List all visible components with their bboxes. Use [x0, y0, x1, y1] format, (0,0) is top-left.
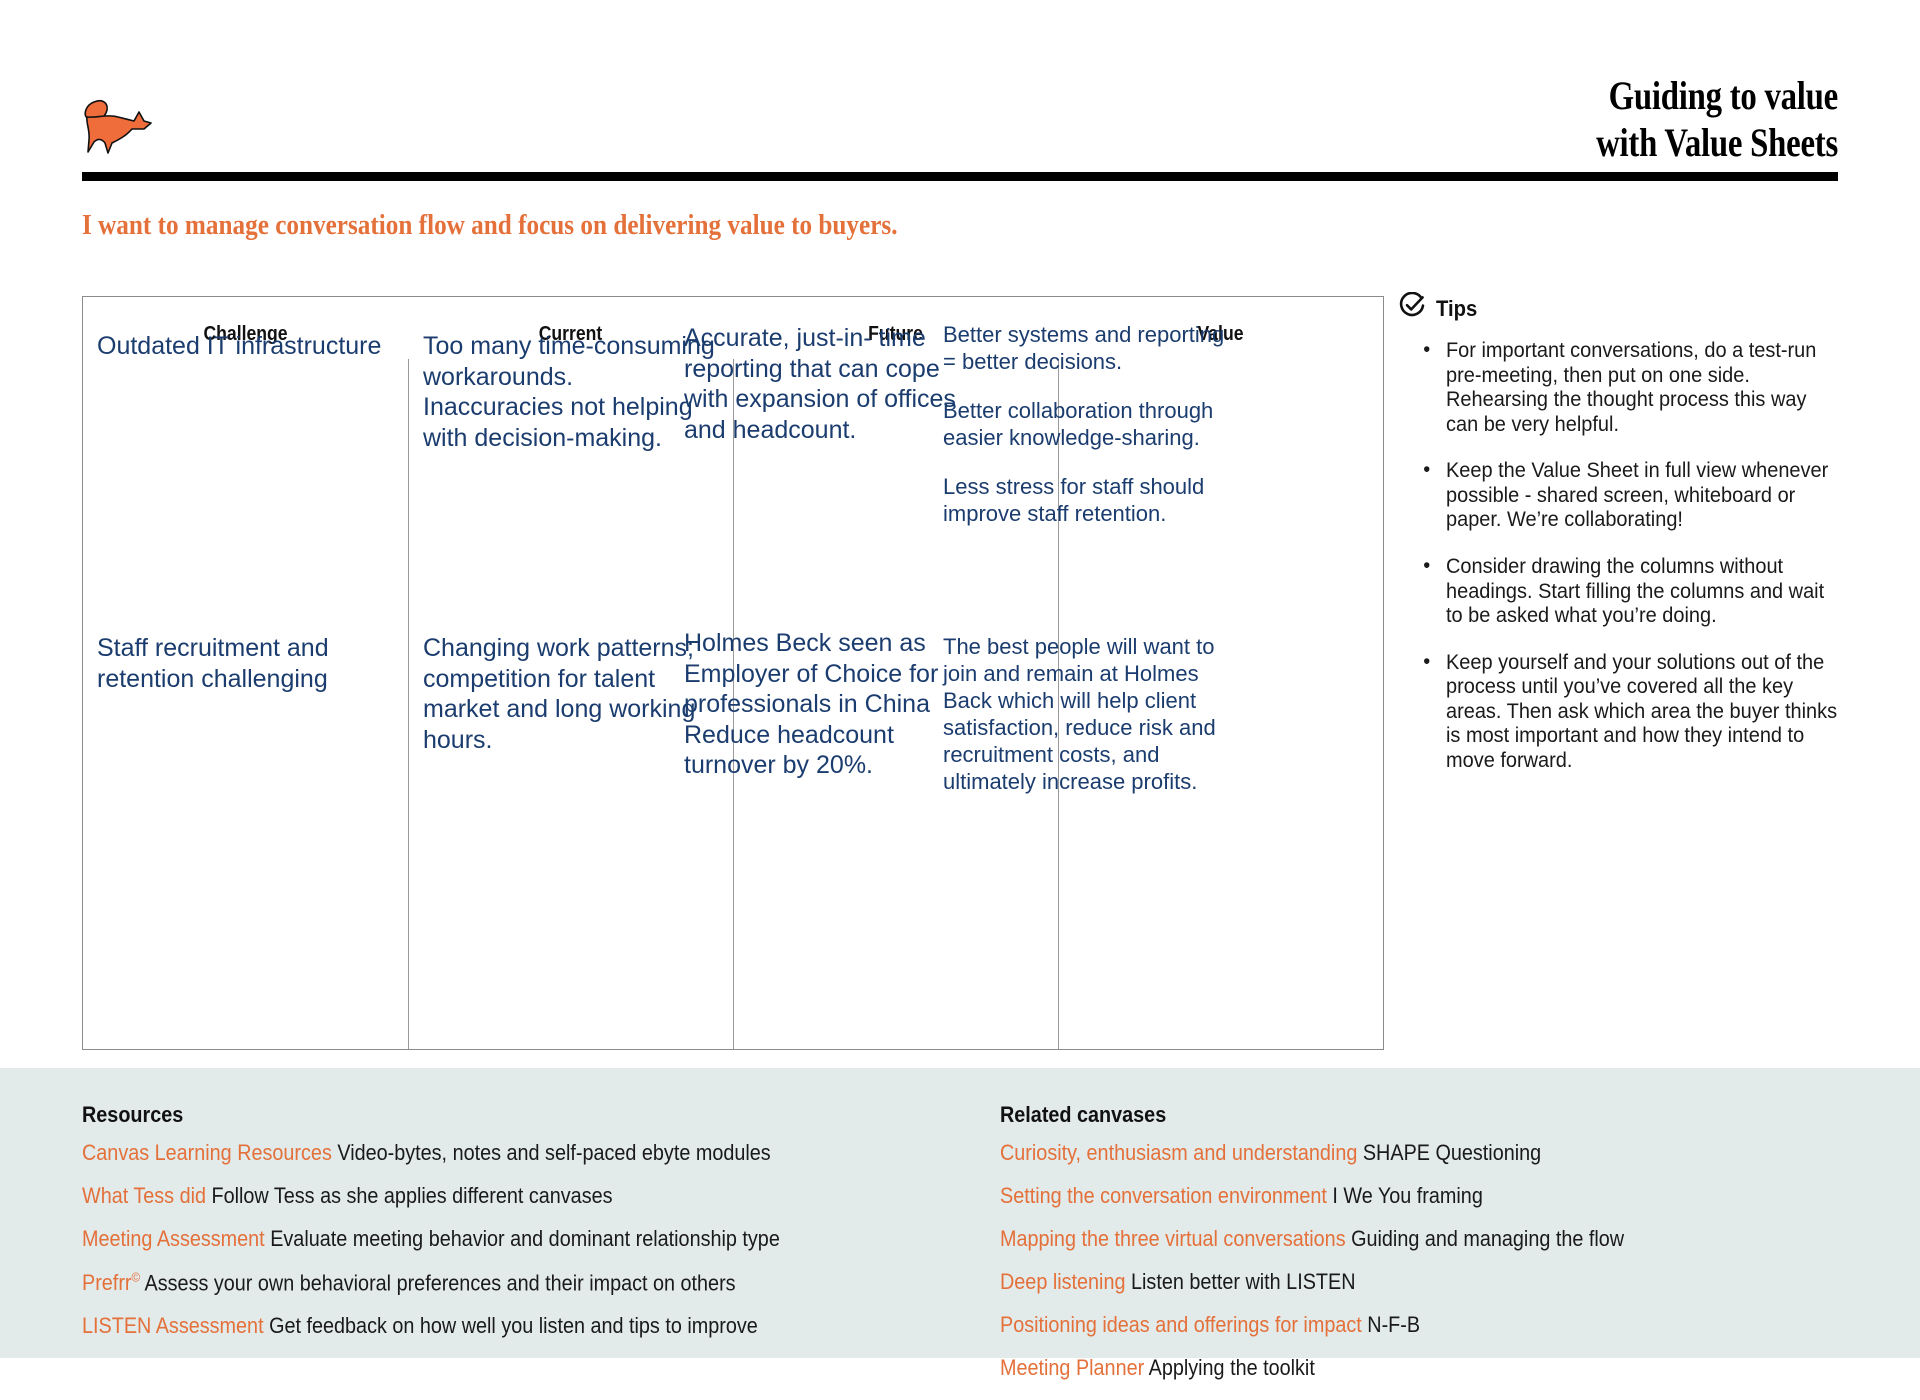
tips-list: For important conversations, do a test-r… — [1398, 339, 1858, 773]
cell-row1-value-p2: Better collaboration through easier know… — [943, 397, 1233, 451]
related-canvas-desc: Guiding and managing the flow — [1351, 1226, 1624, 1251]
related-canvas-link[interactable]: Setting the conversation environment — [1000, 1183, 1327, 1208]
resource-item[interactable]: What Tess did Follow Tess as she applies… — [82, 1185, 874, 1207]
resource-desc: Get feedback on how well you listen and … — [269, 1313, 758, 1338]
subtitle: I want to manage conversation flow and f… — [82, 210, 898, 242]
page-title-line1: Guiding to value — [1596, 72, 1838, 119]
related-canvas-desc: SHAPE Questioning — [1363, 1140, 1541, 1165]
cell-row1-current[interactable]: Too many time-consuming workarounds. Ina… — [423, 331, 715, 453]
tips-header: Tips — [1398, 292, 1858, 325]
cell-row1-future[interactable]: Accurate, just-in- time reporting that c… — [684, 323, 984, 445]
related-canvas-item[interactable]: Setting the conversation environment I W… — [1000, 1185, 1774, 1207]
related-canvas-desc: Applying the toolkit — [1149, 1355, 1315, 1380]
tip-item: Keep the Value Sheet in full view whenev… — [1446, 459, 1837, 533]
cell-row2-challenge[interactable]: Staff recruitment and retention challeng… — [97, 633, 402, 694]
resource-link[interactable]: Prefrr© — [82, 1270, 140, 1295]
resource-item[interactable]: Canvas Learning Resources Video-bytes, n… — [82, 1142, 874, 1164]
page-title-line2: with Value Sheets — [1596, 119, 1838, 166]
check-circle-icon — [1398, 292, 1426, 325]
cell-row2-current[interactable]: Changing work patterns; competition for … — [423, 633, 723, 755]
page-title: Guiding to value with Value Sheets — [1596, 72, 1838, 166]
cell-row1-challenge[interactable]: Outdated IT infrastructure — [97, 331, 397, 362]
cell-row2-future[interactable]: Holmes Beck seen as Employer of Choice f… — [684, 628, 974, 781]
resource-item[interactable]: Prefrr© Assess your own behavioral prefe… — [82, 1271, 874, 1294]
tip-item: For important conversations, do a test-r… — [1446, 339, 1837, 437]
copyright-mark: © — [132, 1270, 141, 1285]
resource-link[interactable]: Meeting Assessment — [82, 1226, 265, 1251]
resource-link[interactable]: LISTEN Assessment — [82, 1313, 264, 1338]
tip-item: Consider drawing the columns without hea… — [1446, 555, 1837, 629]
cell-row1-value-p3: Less stress for staff should improve sta… — [943, 473, 1233, 527]
resource-item[interactable]: LISTEN Assessment Get feedback on how we… — [82, 1315, 874, 1337]
related-canvas-item[interactable]: Mapping the three virtual conversations … — [1000, 1228, 1774, 1250]
related-canvas-desc: I We You framing — [1332, 1183, 1482, 1208]
related-canvas-item[interactable]: Positioning ideas and offerings for impa… — [1000, 1314, 1774, 1336]
resource-desc: Evaluate meeting behavior and dominant r… — [270, 1226, 780, 1251]
resource-link[interactable]: Canvas Learning Resources — [82, 1140, 332, 1165]
resource-desc: Follow Tess as she applies different can… — [212, 1183, 613, 1208]
tips-title: Tips — [1436, 296, 1477, 322]
resource-link[interactable]: What Tess did — [82, 1183, 206, 1208]
related-canvas-item[interactable]: Meeting Planner Applying the toolkit — [1000, 1357, 1774, 1379]
resources-heading: Resources — [82, 1102, 874, 1128]
related-canvases-column: Related canvases Curiosity, enthusiasm a… — [1000, 1102, 1860, 1400]
related-canvas-link[interactable]: Meeting Planner — [1000, 1355, 1144, 1380]
related-canvas-item[interactable]: Curiosity, enthusiasm and understanding … — [1000, 1142, 1774, 1164]
related-canvas-link[interactable]: Curiosity, enthusiasm and understanding — [1000, 1140, 1357, 1165]
related-canvas-link[interactable]: Deep listening — [1000, 1269, 1125, 1294]
table-body: Outdated IT infrastructure Too many time… — [83, 297, 1383, 1049]
related-canvas-desc: N-F-B — [1367, 1312, 1420, 1337]
cell-row1-value[interactable]: Better systems and reporting = better de… — [943, 321, 1233, 527]
related-canvases-heading: Related canvases — [1000, 1102, 1774, 1128]
related-canvas-link[interactable]: Mapping the three virtual conversations — [1000, 1226, 1346, 1251]
related-canvas-desc: Listen better with LISTEN — [1131, 1269, 1356, 1294]
cell-row1-value-p1: Better systems and reporting = better de… — [943, 321, 1233, 375]
page-footer: Resources Canvas Learning Resources Vide… — [0, 1068, 1920, 1358]
value-sheet-table: Challenge Current Future Value Outdated … — [82, 296, 1384, 1050]
resource-desc: Assess your own behavioral preferences a… — [145, 1270, 736, 1295]
resources-column: Resources Canvas Learning Resources Vide… — [82, 1102, 962, 1358]
fox-logo-icon — [82, 96, 154, 158]
related-canvas-item[interactable]: Deep listening Listen better with LISTEN — [1000, 1271, 1774, 1293]
related-canvas-link[interactable]: Positioning ideas and offerings for impa… — [1000, 1312, 1362, 1337]
page-header: Guiding to value with Value Sheets — [0, 0, 1920, 190]
tip-item: Keep yourself and your solutions out of … — [1446, 651, 1837, 774]
cell-row2-value[interactable]: The best people will want to join and re… — [943, 633, 1243, 795]
resource-item[interactable]: Meeting Assessment Evaluate meeting beha… — [82, 1228, 874, 1250]
resource-desc: Video-bytes, notes and self-paced ebyte … — [337, 1140, 770, 1165]
header-divider — [82, 172, 1838, 181]
tips-panel: Tips For important conversations, do a t… — [1398, 292, 1858, 795]
